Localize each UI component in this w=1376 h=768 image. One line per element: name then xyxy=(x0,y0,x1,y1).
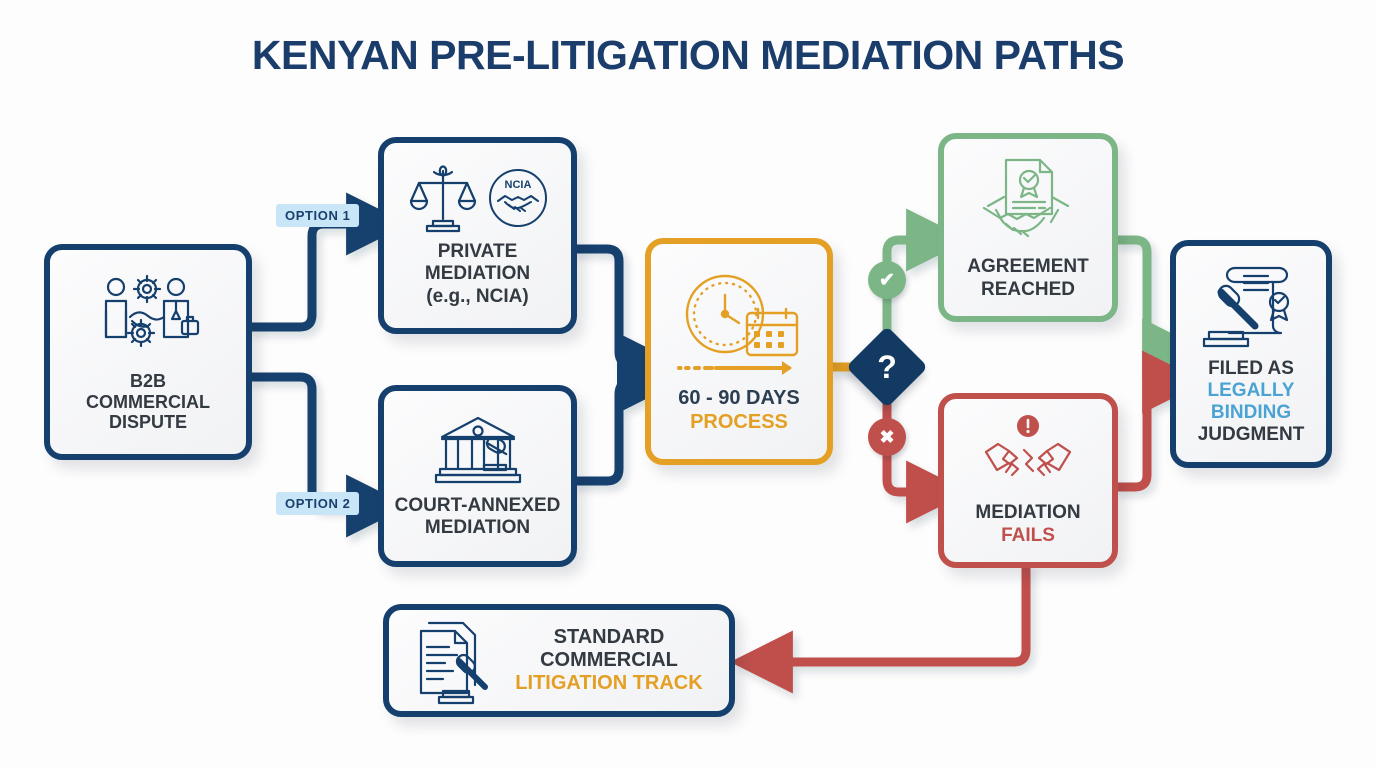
courthouse-gavel-icon xyxy=(432,413,524,485)
node-label-line1: MEDIATION xyxy=(975,502,1080,524)
scroll-gavel-seal-icon xyxy=(1199,262,1303,350)
node-label-line2: REACHED xyxy=(967,279,1088,301)
node-agreement-reached[interactable]: AGREEMENT REACHED xyxy=(938,133,1118,322)
node-label-line1: AGREEMENT xyxy=(967,256,1088,278)
node-filed-as-judgment[interactable]: FILED AS LEGALLY BINDING JUDGMENT xyxy=(1170,240,1332,468)
decision-no-cross-icon: ✖ xyxy=(868,418,906,456)
node-label-line2: COMMERCIAL xyxy=(86,392,210,413)
page-title: KENYAN PRE-LITIGATION MEDIATION PATHS xyxy=(0,32,1376,79)
documents-gavel-icon xyxy=(415,617,501,705)
edge-private-to-process xyxy=(577,249,645,364)
diagram-canvas: KENYAN PRE-LITIGATION MEDIATION PATHS xyxy=(0,0,1376,768)
edge-agreement-to-judgment xyxy=(1118,240,1170,350)
edge-court-to-process xyxy=(577,382,645,481)
node-label-line3: LITIGATION TRACK xyxy=(515,672,702,695)
ncia-text: NCIA xyxy=(504,179,531,191)
node-label-line2: FAILS xyxy=(975,525,1080,547)
node-label-line3: DISPUTE xyxy=(86,412,210,433)
edge-start-to-court xyxy=(252,377,374,506)
ncia-handshake-seal-icon: NCIA xyxy=(487,167,549,229)
node-label-line1: STANDARD xyxy=(515,626,702,649)
broken-handshake-alert-icon xyxy=(978,414,1078,494)
node-label-line4: JUDGMENT xyxy=(1198,424,1305,446)
badge-option-2: OPTION 2 xyxy=(276,492,359,515)
private-mediation-icons: NCIA xyxy=(407,163,549,233)
node-label-line3: (e.g., NCIA) xyxy=(425,286,530,308)
node-label-line1: B2B xyxy=(86,371,210,392)
scales-of-justice-icon xyxy=(407,163,479,233)
node-private-mediation[interactable]: NCIA PRIVATE MEDIATION (e.g., NCIA) xyxy=(378,137,577,334)
node-label-line1: PRIVATE xyxy=(425,241,530,263)
node-label-line2: COMMERCIAL xyxy=(515,649,702,672)
node-label-line2: MEDIATION xyxy=(425,263,530,285)
edge-fails-to-litigation xyxy=(765,568,1026,662)
node-label-line1: 60 - 90 DAYS xyxy=(678,387,800,410)
certificate-handshake-icon xyxy=(974,154,1082,248)
node-label-line2: MEDIATION xyxy=(395,517,561,539)
clock-calendar-timeline-icon xyxy=(673,269,805,381)
node-label-line3: BINDING xyxy=(1198,402,1305,424)
node-standard-litigation-track[interactable]: STANDARD COMMERCIAL LITIGATION TRACK xyxy=(383,604,735,717)
node-label-line1: FILED AS xyxy=(1198,358,1305,380)
node-60-90-days-process[interactable]: 60 - 90 DAYS PROCESS xyxy=(645,238,833,465)
node-label-line1: COURT-ANNEXED xyxy=(395,495,561,517)
badge-option-1: OPTION 1 xyxy=(276,204,359,227)
node-b2b-commercial-dispute[interactable]: B2B COMMERCIAL DISPUTE xyxy=(44,244,252,460)
node-label-line2: PROCESS xyxy=(678,411,800,434)
edge-start-to-private xyxy=(252,224,374,327)
edge-fails-to-judgment xyxy=(1118,382,1170,487)
business-handshake-gears-icon xyxy=(94,271,202,359)
node-court-annexed-mediation[interactable]: COURT-ANNEXED MEDIATION xyxy=(378,385,577,567)
decision-question-mark: ? xyxy=(858,338,916,396)
node-mediation-fails[interactable]: MEDIATION FAILS xyxy=(938,393,1118,568)
node-label-line2: LEGALLY xyxy=(1198,380,1305,402)
decision-yes-check-icon: ✔ xyxy=(868,261,906,299)
